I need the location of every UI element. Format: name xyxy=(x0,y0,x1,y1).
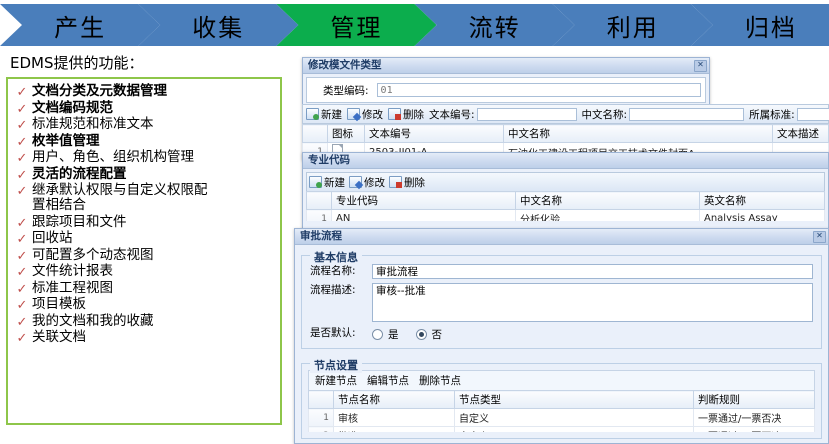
check-icon: ✓ xyxy=(12,117,32,132)
feature-item-label: 灵活的流程配置 xyxy=(32,167,127,182)
dialog-major-code[interactable]: 专业代码 新建 修改 删除 专业代码中文名称英文名称1AN分析化验Analysi… xyxy=(302,152,829,238)
is-default-row: 是否默认: 是 否 xyxy=(310,326,813,342)
feature-item-label: 继承默认权限与自定义权限配 置相结合 xyxy=(32,183,208,213)
process-banner: 产生收集管理流转利用归档 xyxy=(0,4,829,46)
node-settings-legend: 节点设置 xyxy=(310,357,362,373)
table-header-row: 节点名称节点类型判断规则 xyxy=(309,391,815,409)
column-header[interactable]: 文本编号 xyxy=(365,125,504,143)
radio-yes-label: 是 xyxy=(388,327,399,342)
delete-button-label: 删除 xyxy=(403,107,424,122)
feature-list: ✓文档分类及元数据管理✓文档编码规范✓标准规范和标准文本✓枚举值管理✓用户、角色… xyxy=(6,77,282,425)
document-icon xyxy=(332,144,343,152)
row-index: 1 xyxy=(309,409,334,427)
column-header[interactable]: 节点名称 xyxy=(334,391,455,409)
check-icon: ✓ xyxy=(12,183,32,198)
radio-yes[interactable] xyxy=(372,329,383,340)
check-icon: ✓ xyxy=(12,150,32,165)
table-cell: 2503-JI01-A xyxy=(365,143,504,153)
process-desc-label: 流程描述: xyxy=(310,283,372,298)
table-cell: 一票通过/一票否决 xyxy=(694,409,815,427)
major-code-toolbar[interactable]: 新建 修改 删除 xyxy=(306,172,825,191)
feature-item: ✓文档分类及元数据管理 xyxy=(12,84,276,99)
feature-item-label: 标准规范和标准文本 xyxy=(32,117,154,132)
column-header[interactable]: 节点类型 xyxy=(455,391,694,409)
dialog-approval[interactable]: 审批流程 ✕ 基本信息 流程名称: 审批流程 流程描述: 审核--批准 是否默认… xyxy=(294,228,829,444)
process-step-label: 利用 xyxy=(607,8,659,43)
feature-item-label: 跟踪项目和文件 xyxy=(32,215,127,230)
check-icon: ✓ xyxy=(12,215,32,230)
table-cell: 石油化工建设工程项目交工技术文件封面A xyxy=(504,143,773,153)
dialog-file-type-title: 修改模文件类型 xyxy=(308,58,694,73)
file-type-grid-wrap: 图标文本编号中文名称文本描述12503-JI01-A石油化工建设工程项目交工技术… xyxy=(302,124,829,152)
feature-item-label: 标准工程视图 xyxy=(32,281,113,296)
feature-item: ✓标准规范和标准文本 xyxy=(12,117,276,132)
process-step-4[interactable]: 流转 xyxy=(415,4,575,46)
process-step-1[interactable]: 产生 xyxy=(0,4,160,46)
process-name-input[interactable]: 审批流程 xyxy=(372,264,813,279)
filter-standard-input[interactable] xyxy=(797,108,829,121)
type-code-panel: 类型编码: 01 xyxy=(306,77,706,103)
left-column: EDMS提供的功能： ✓文档分类及元数据管理✓文档编码规范✓标准规范和标准文本✓… xyxy=(6,52,294,425)
feature-item-label: 我的文档和我的收藏 xyxy=(32,314,154,329)
process-name-label: 流程名称: xyxy=(310,264,372,279)
feature-item-label: 枚举值管理 xyxy=(32,134,100,149)
delete-icon xyxy=(388,108,401,120)
edit-icon xyxy=(349,176,362,188)
process-desc-textarea[interactable]: 审核--批准 xyxy=(372,283,813,322)
filter-cn-name-input[interactable] xyxy=(629,108,744,121)
column-header[interactable] xyxy=(309,391,334,409)
delete-button[interactable]: 删除 xyxy=(388,107,424,122)
process-step-label: 归档 xyxy=(745,8,797,43)
feature-item: ✓文档编码规范 xyxy=(12,101,276,116)
feature-item: ✓文件统计报表 xyxy=(12,264,276,279)
check-icon: ✓ xyxy=(12,264,32,279)
check-icon: ✓ xyxy=(12,134,32,149)
table-cell: 自定义 xyxy=(455,409,694,427)
feature-item-label: 项目模板 xyxy=(32,297,86,312)
feature-item: ✓我的文档和我的收藏 xyxy=(12,314,276,329)
new-button[interactable]: 新建 xyxy=(306,107,342,122)
table-cell: 分析化验 xyxy=(516,210,700,222)
major-code-grid[interactable]: 专业代码中文名称英文名称1AN分析化验Analysis Assay xyxy=(306,191,825,221)
column-header[interactable] xyxy=(303,125,328,143)
check-icon: ✓ xyxy=(12,167,32,182)
new-button-label: 新建 xyxy=(321,107,342,122)
row-index: 1 xyxy=(307,210,332,222)
major-edit-button[interactable]: 修改 xyxy=(349,175,385,190)
edit-button-label: 修改 xyxy=(362,107,383,122)
feature-item: ✓标准工程视图 xyxy=(12,281,276,296)
filter-text-code-label: 文本编号: xyxy=(429,107,475,122)
feature-item: ✓继承默认权限与自定义权限配 置相结合 xyxy=(12,183,276,213)
basic-info-legend: 基本信息 xyxy=(310,249,362,265)
add-icon xyxy=(309,176,322,188)
table-row[interactable]: 1AN分析化验Analysis Assay xyxy=(307,210,825,222)
feature-item: ✓回收站 xyxy=(12,231,276,246)
feature-item-label: 关联文档 xyxy=(32,330,86,345)
feature-item: ✓灵活的流程配置 xyxy=(12,167,276,182)
check-icon: ✓ xyxy=(12,281,32,296)
dialog-major-code-titlebar[interactable]: 专业代码 xyxy=(303,153,828,169)
feature-item-label: 可配置多个动态视图 xyxy=(32,248,154,263)
radio-no[interactable] xyxy=(416,329,427,340)
file-type-toolbar[interactable]: 新建 修改 删除 文本编号: 中文名称: 所属标准: xyxy=(302,104,829,124)
page-title: EDMS提供的功能： xyxy=(10,52,294,73)
check-icon: ✓ xyxy=(12,330,32,345)
feature-item: ✓用户、角色、组织机构管理 xyxy=(12,150,276,165)
column-header[interactable]: 英文名称 xyxy=(700,192,825,210)
column-header[interactable]: 图标 xyxy=(328,125,365,143)
process-step-2[interactable]: 收集 xyxy=(138,4,298,46)
type-code-label: 类型编码: xyxy=(323,83,369,98)
filter-standard[interactable]: 所属标准: xyxy=(749,107,829,122)
column-header[interactable] xyxy=(307,192,332,210)
major-new-label: 新建 xyxy=(324,175,345,190)
dialog-approval-titlebar[interactable]: 审批流程 ✕ xyxy=(295,229,828,245)
process-name-row: 流程名称: 审批流程 xyxy=(310,264,813,279)
major-delete-label: 删除 xyxy=(404,175,425,190)
check-icon: ✓ xyxy=(12,248,32,263)
dialog-major-code-title: 专业代码 xyxy=(308,153,826,168)
table-cell: 批准 xyxy=(334,427,455,433)
filter-text-code-input[interactable] xyxy=(477,108,577,121)
basic-info-group: 基本信息 流程名称: 审批流程 流程描述: 审核--批准 是否默认: 是 否 xyxy=(301,255,822,349)
check-icon: ✓ xyxy=(12,314,32,329)
table-row[interactable]: 12503-JI01-A石油化工建设工程项目交工技术文件封面A xyxy=(303,143,829,153)
check-icon: ✓ xyxy=(12,84,32,99)
table-header-row: 专业代码中文名称英文名称 xyxy=(307,192,825,210)
filter-text-code[interactable]: 文本编号: xyxy=(429,107,577,122)
process-step-5[interactable]: 利用 xyxy=(553,4,713,46)
feature-item-label: 文件统计报表 xyxy=(32,264,113,279)
filter-cn-name[interactable]: 中文名称: xyxy=(582,107,745,122)
type-code-input[interactable]: 01 xyxy=(377,83,701,97)
edit-button[interactable]: 修改 xyxy=(347,107,383,122)
feature-item-label: 用户、角色、组织机构管理 xyxy=(32,150,194,165)
row-icon xyxy=(328,143,365,153)
column-header[interactable]: 文本描述 xyxy=(773,125,829,143)
feature-item-label: 回收站 xyxy=(32,231,73,246)
feature-item: ✓关联文档 xyxy=(12,330,276,345)
process-step-3[interactable]: 管理 xyxy=(276,4,436,46)
radio-no-label: 否 xyxy=(432,327,443,342)
close-icon[interactable]: ✕ xyxy=(813,231,826,243)
feature-item: ✓枚举值管理 xyxy=(12,134,276,149)
column-header[interactable]: 中文名称 xyxy=(516,192,700,210)
is-default-label: 是否默认: xyxy=(310,326,372,341)
feature-item: ✓项目模板 xyxy=(12,297,276,312)
major-edit-label: 修改 xyxy=(364,175,385,190)
check-icon: ✓ xyxy=(12,101,32,116)
file-type-grid[interactable]: 图标文本编号中文名称文本描述12503-JI01-A石油化工建设工程项目交工技术… xyxy=(302,124,829,152)
delete-icon xyxy=(389,176,402,188)
table-row[interactable]: 1审核自定义一票通过/一票否决 xyxy=(309,409,815,427)
dialog-file-type-titlebar[interactable]: 修改模文件类型 ✕ xyxy=(303,58,709,74)
filter-cn-name-label: 中文名称: xyxy=(582,107,628,122)
process-step-label: 产生 xyxy=(54,8,106,43)
row-index: 2 xyxy=(309,427,334,433)
node-menu-item[interactable]: 删除节点 xyxy=(419,373,461,388)
process-step-label: 管理 xyxy=(330,8,382,43)
column-header[interactable]: 专业代码 xyxy=(332,192,516,210)
process-step-label: 流转 xyxy=(469,8,521,43)
row-index: 1 xyxy=(303,143,328,153)
column-header[interactable]: 判断规则 xyxy=(694,391,815,409)
major-delete-button[interactable]: 删除 xyxy=(389,175,425,190)
node-menu-item[interactable]: 新建节点 xyxy=(315,373,357,388)
table-cell: 一票通过/一票否决 xyxy=(694,427,815,433)
feature-item: ✓可配置多个动态视图 xyxy=(12,248,276,263)
close-icon[interactable]: ✕ xyxy=(694,60,707,72)
add-icon xyxy=(306,108,319,120)
node-settings-group: 节点设置 新建节点编辑节点删除节点 节点名称节点类型判断规则1审核自定义一票通过… xyxy=(301,363,822,439)
table-row[interactable]: 2批准自定义一票通过/一票否决 xyxy=(309,427,815,433)
table-header-row: 图标文本编号中文名称文本描述 xyxy=(303,125,829,143)
check-icon: ✓ xyxy=(12,297,32,312)
feature-item-label: 文档编码规范 xyxy=(32,101,113,116)
node-menu-bar[interactable]: 新建节点编辑节点删除节点 xyxy=(308,370,815,390)
column-header[interactable]: 中文名称 xyxy=(504,125,773,143)
node-menu-item[interactable]: 编辑节点 xyxy=(367,373,409,388)
table-cell: 自定义 xyxy=(455,427,694,433)
process-step-label: 收集 xyxy=(192,8,244,43)
dialog-approval-title: 审批流程 xyxy=(300,229,813,244)
table-cell: AN xyxy=(332,210,516,222)
table-cell xyxy=(773,143,829,153)
edit-icon xyxy=(347,108,360,120)
filter-standard-label: 所属标准: xyxy=(749,107,795,122)
process-desc-row: 流程描述: 审核--批准 xyxy=(310,283,813,322)
feature-item-label: 文档分类及元数据管理 xyxy=(32,84,167,99)
table-cell: Analysis Assay xyxy=(700,210,825,222)
feature-item: ✓跟踪项目和文件 xyxy=(12,215,276,230)
major-new-button[interactable]: 新建 xyxy=(309,175,345,190)
node-grid[interactable]: 节点名称节点类型判断规则1审核自定义一票通过/一票否决2批准自定义一票通过/一票… xyxy=(308,390,815,432)
table-cell: 审核 xyxy=(334,409,455,427)
check-icon: ✓ xyxy=(12,231,32,246)
